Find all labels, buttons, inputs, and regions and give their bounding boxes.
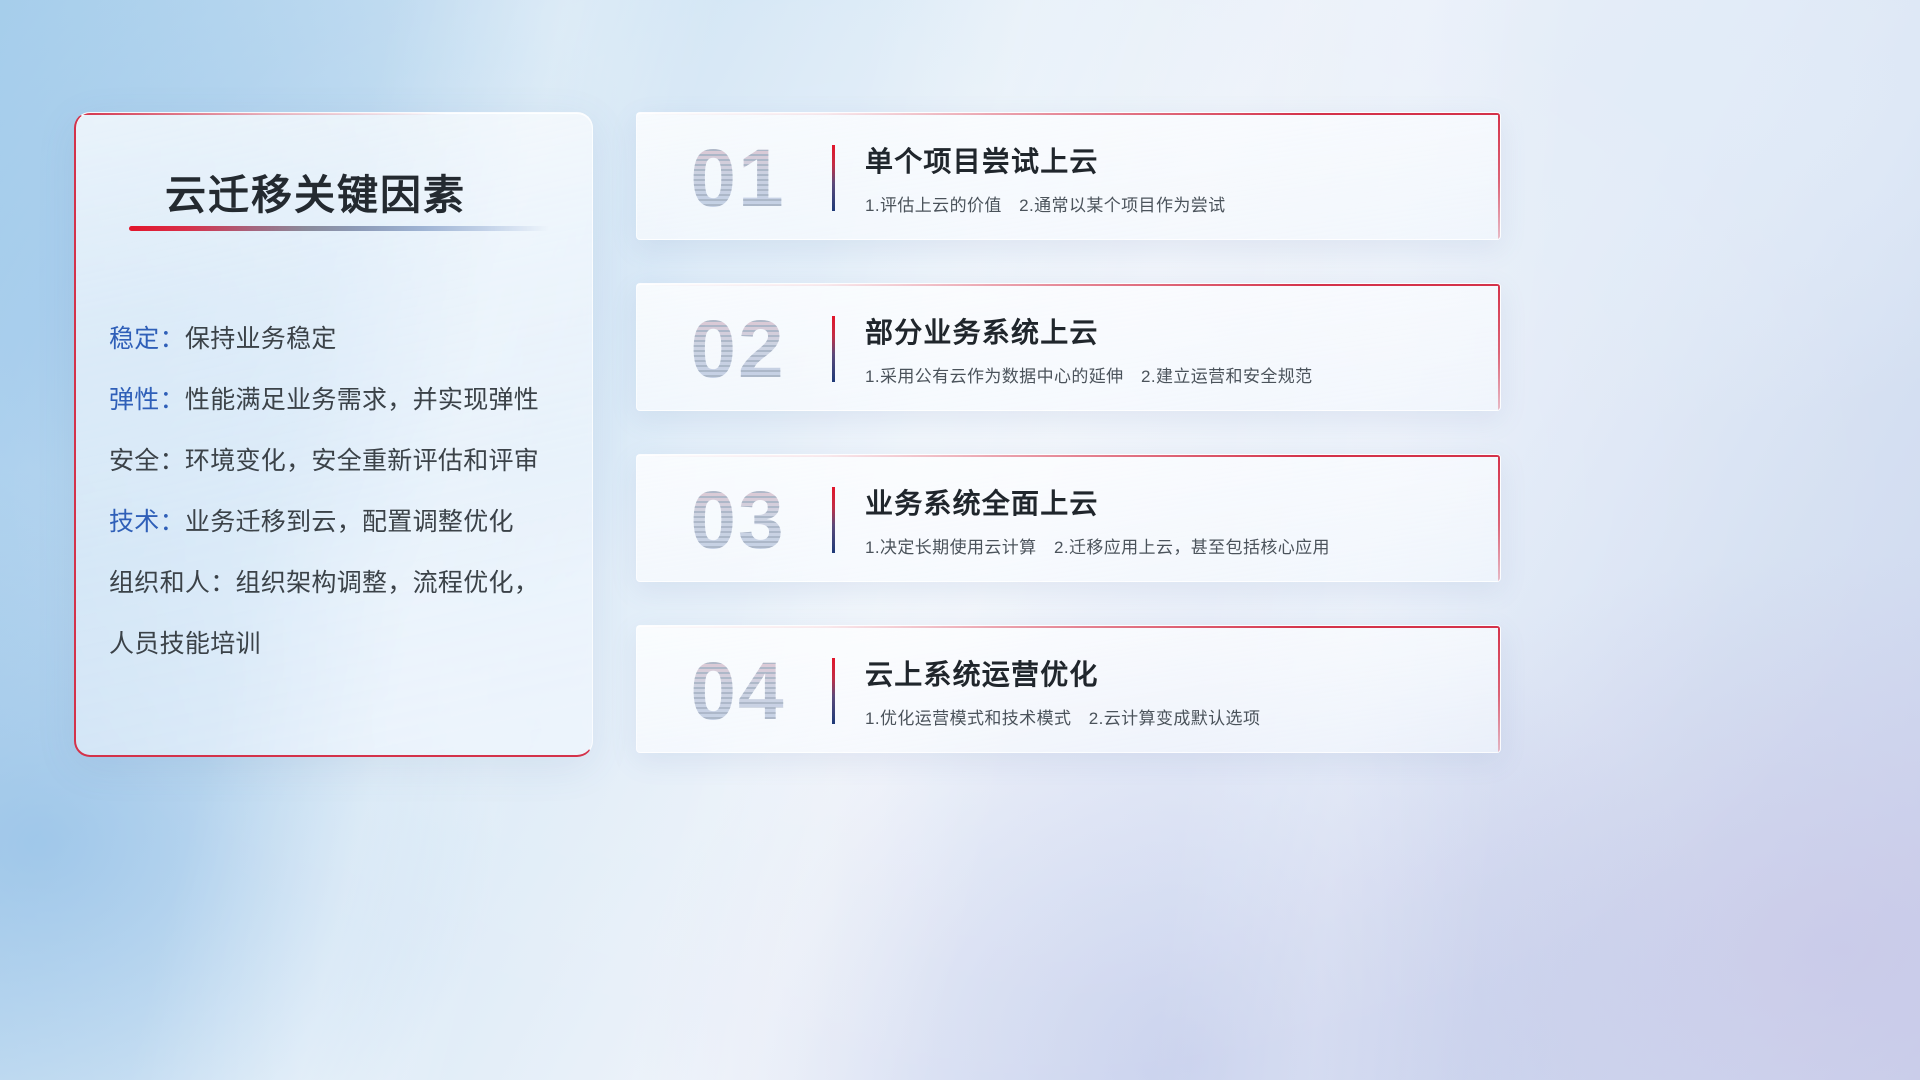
stage-description: 1.优化运营模式和技术模式 2.云计算变成默认选项: [865, 704, 1260, 729]
key-factor-text: 业务迁移到云，配置调整优化: [185, 508, 514, 536]
key-factors-list: 稳定：保持业务稳定弹性：性能满足业务需求，并实现弹性安全：环境变化，安全重新评估…: [109, 309, 569, 675]
stage-title: 业务系统全面上云: [865, 482, 1099, 522]
key-factor-keyword: 安全：: [109, 447, 185, 475]
key-factor-line: 技术：业务迁移到云，配置调整优化: [109, 492, 569, 553]
key-factor-line: 组织和人：组织架构调整，流程优化，: [109, 553, 569, 614]
key-factor-line: 人员技能培训: [109, 614, 569, 675]
page-title: 云迁移关键因素: [165, 161, 466, 221]
stage-number: 03: [663, 469, 813, 573]
stage-description: 1.采用公有云作为数据中心的延伸 2.建立运营和安全规范: [865, 362, 1313, 387]
migration-stage-card[interactable]: 04云上系统运营优化1.优化运营模式和技术模式 2.云计算变成默认选项: [636, 625, 1501, 753]
key-factor-text: 组织架构调整，流程优化，: [236, 569, 540, 597]
stage-accent-bar: [832, 487, 835, 553]
stage-accent-bar: [832, 145, 835, 211]
key-factor-line: 弹性：性能满足业务需求，并实现弹性: [109, 370, 569, 431]
title-underline-rule: [129, 226, 549, 231]
stage-number: 04: [663, 640, 813, 744]
key-factor-keyword: 弹性：: [109, 386, 185, 414]
stage-description: 1.评估上云的价值 2.通常以某个项目作为尝试: [865, 191, 1226, 216]
migration-stage-card[interactable]: 03业务系统全面上云1.决定长期使用云计算 2.迁移应用上云，甚至包括核心应用: [636, 454, 1501, 582]
migration-stage-card-list: 01单个项目尝试上云1.评估上云的价值 2.通常以某个项目作为尝试02部分业务系…: [636, 112, 1501, 796]
stage-title: 单个项目尝试上云: [865, 140, 1099, 180]
key-factor-text: 性能满足业务需求，并实现弹性: [185, 386, 539, 414]
stage-number: 02: [663, 298, 813, 402]
stage-number: 01: [663, 127, 813, 231]
stage-title: 部分业务系统上云: [865, 311, 1099, 351]
stage-accent-bar: [832, 316, 835, 382]
stage-accent-bar: [832, 658, 835, 724]
key-factor-keyword: 稳定：: [109, 325, 185, 353]
key-factor-text: 环境变化，安全重新评估和评审: [185, 447, 539, 475]
slide-canvas: 云迁移关键因素 稳定：保持业务稳定弹性：性能满足业务需求，并实现弹性安全：环境变…: [0, 0, 1920, 1080]
migration-stage-card[interactable]: 01单个项目尝试上云1.评估上云的价值 2.通常以某个项目作为尝试: [636, 112, 1501, 240]
key-factor-keyword: 组织和人：: [109, 569, 236, 597]
key-factor-text: 保持业务稳定: [185, 325, 337, 353]
migration-stage-card[interactable]: 02部分业务系统上云1.采用公有云作为数据中心的延伸 2.建立运营和安全规范: [636, 283, 1501, 411]
key-factor-keyword: 技术：: [109, 508, 185, 536]
key-factor-line: 稳定：保持业务稳定: [109, 309, 569, 370]
key-factor-line: 安全：环境变化，安全重新评估和评审: [109, 431, 569, 492]
stage-title: 云上系统运营优化: [865, 653, 1099, 693]
key-factors-panel: 云迁移关键因素 稳定：保持业务稳定弹性：性能满足业务需求，并实现弹性安全：环境变…: [74, 112, 593, 757]
stage-description: 1.决定长期使用云计算 2.迁移应用上云，甚至包括核心应用: [865, 533, 1330, 558]
key-factor-text: 人员技能培训: [109, 630, 261, 658]
